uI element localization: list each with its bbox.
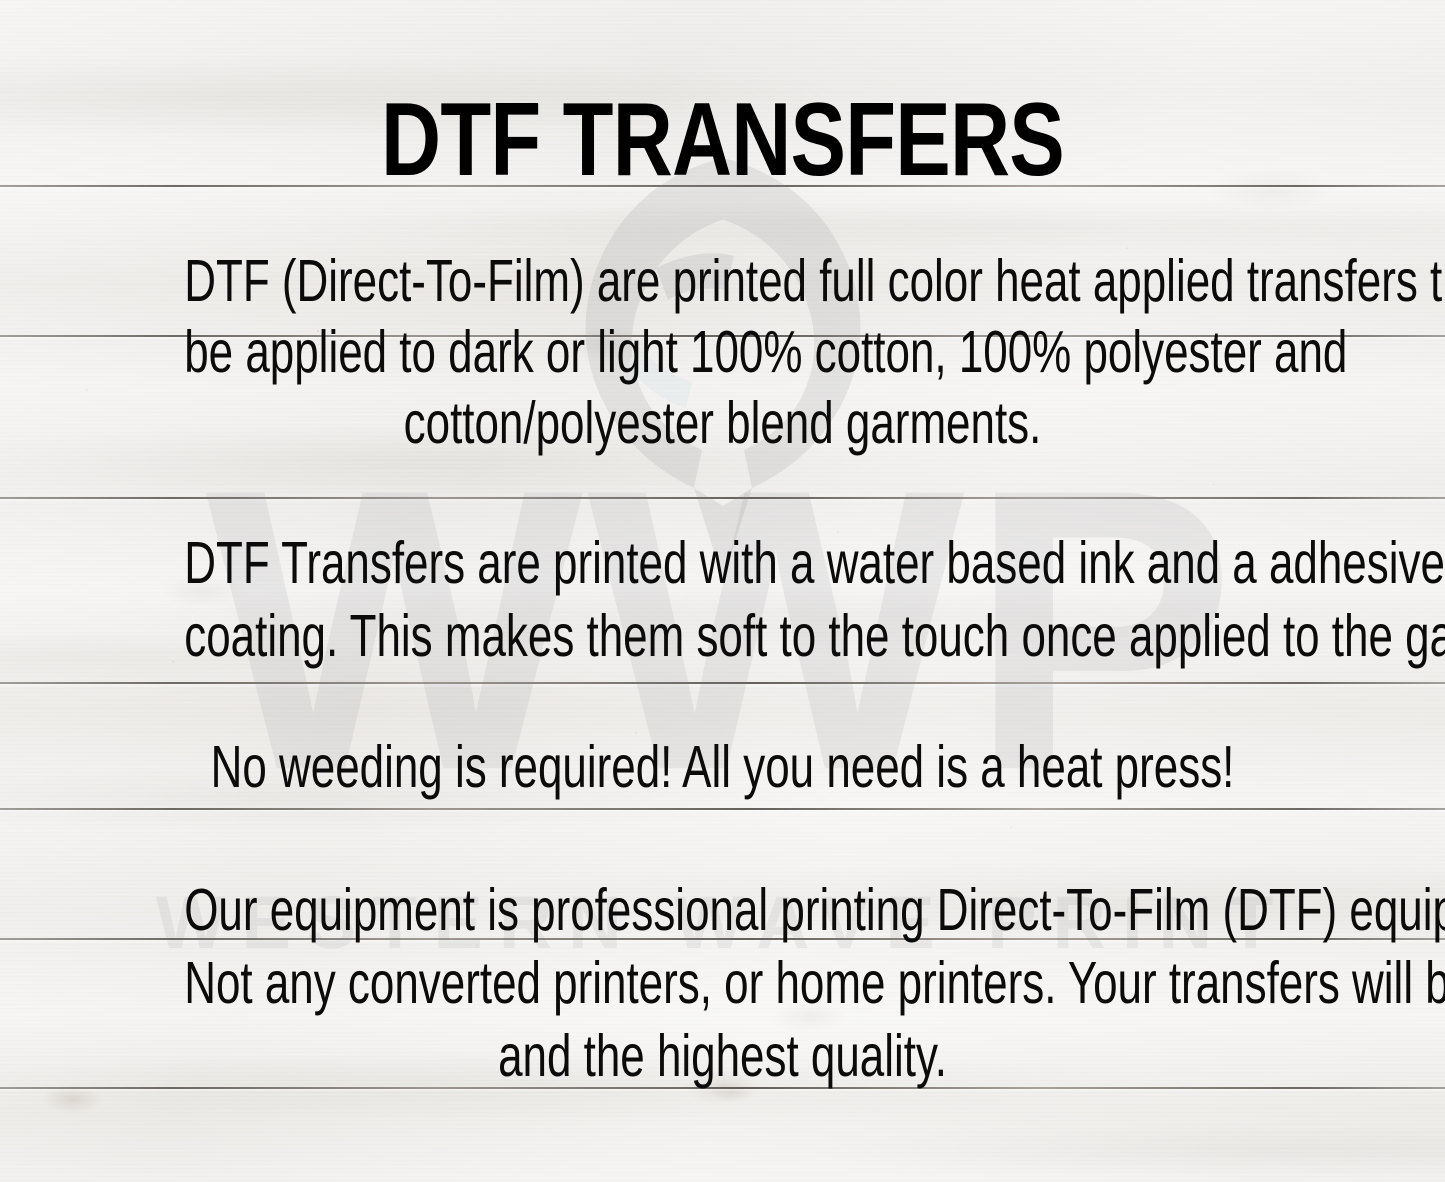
paragraph-line: DTF Transfers are printed with a water b… xyxy=(184,527,1261,600)
poster-canvas: WWP WESTERN WAVE PRINT DTF TRANSFERS DTF… xyxy=(0,0,1445,1182)
paragraph-what-is-dtf: DTF (Direct-To-Film) are printed full co… xyxy=(0,246,1445,459)
page-title: DTF TRANSFERS xyxy=(145,88,1301,192)
paragraph-line: and the highest quality. xyxy=(184,1020,1261,1093)
paragraph-line: coating. This makes them soft to the tou… xyxy=(184,600,1261,673)
paragraph-equipment: Our equipment is professional printing D… xyxy=(0,874,1445,1093)
paragraph-line: Our equipment is professional printing D… xyxy=(184,874,1261,947)
paragraph-no-weeding: No weeding is required! All you need is … xyxy=(0,731,1445,804)
paragraph-line: DTF (Direct-To-Film) are printed full co… xyxy=(184,246,1261,317)
poster-content: DTF TRANSFERS DTF (Direct-To-Film) are p… xyxy=(0,0,1445,1182)
paragraph-line: cotton/polyester blend garments. xyxy=(184,388,1261,459)
paragraph-line: Not any converted printers, or home prin… xyxy=(184,947,1261,1020)
paragraph-line: No weeding is required! All you need is … xyxy=(184,731,1261,804)
paragraph-ink-and-feel: DTF Transfers are printed with a water b… xyxy=(0,527,1445,673)
paragraph-line: be applied to dark or light 100% cotton,… xyxy=(184,317,1261,388)
